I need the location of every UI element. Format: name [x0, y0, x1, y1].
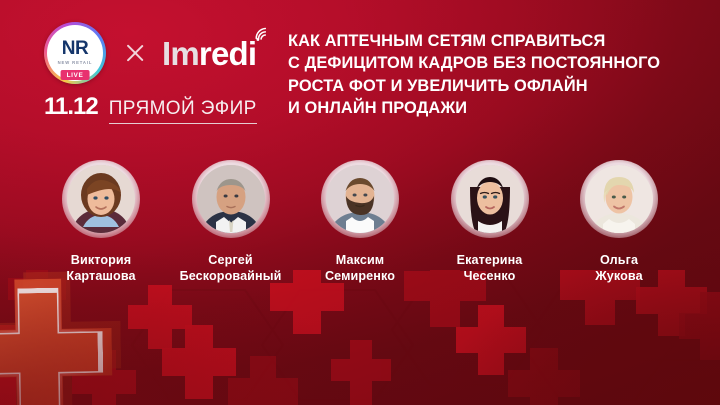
nr-logo-subtitle: NEW RETAIL [58, 60, 93, 65]
avatar-ring [192, 160, 270, 238]
speaker-first-name: Ольга [595, 252, 642, 268]
broadcast-date: 11.12 [44, 95, 98, 119]
speaker-last-name: Бескоровайный [180, 268, 282, 284]
promo-banner: NR NEW RETAIL LIVE Im redi [0, 0, 720, 405]
nr-live-logo: NR NEW RETAIL LIVE [44, 22, 106, 84]
speaker-card: Екатерина Чесенко [429, 160, 551, 300]
imredi-logo: Im redi [162, 37, 256, 70]
banner-header: NR NEW RETAIL LIVE Im redi [0, 0, 720, 150]
speaker-last-name: Жукова [595, 268, 642, 284]
speakers-list: Виктория Карташова [0, 160, 720, 300]
speaker-first-name: Сергей [180, 252, 282, 268]
avatar-ring [321, 160, 399, 238]
speaker-last-name: Чесенко [457, 268, 523, 284]
avatar [197, 165, 265, 233]
speaker-name: Максим Семиренко [325, 252, 395, 284]
avatar [456, 165, 524, 233]
speaker-last-name: Карташова [66, 268, 135, 284]
speaker-card: Ольга Жукова [558, 160, 680, 300]
avatar [326, 165, 394, 233]
speaker-first-name: Екатерина [457, 252, 523, 268]
avatar-ring [451, 160, 529, 238]
broadcast-info: 11.12 ПРЯМОЙ ЭФИР [44, 95, 257, 124]
collab-cross-icon [124, 42, 146, 64]
portrait-woman-dark-hair-icon [456, 165, 524, 233]
portrait-man-suit-tie-icon [197, 165, 265, 233]
portrait-woman-brown-hair-icon [67, 165, 135, 233]
imredi-logo-part1: Im [162, 37, 199, 70]
speaker-name: Екатерина Чесенко [457, 252, 523, 284]
broadcast-label: ПРЯМОЙ ЭФИР [109, 99, 257, 124]
logo-row: NR NEW RETAIL LIVE Im redi [44, 22, 256, 84]
wifi-signal-icon [251, 24, 269, 42]
speaker-first-name: Максим [325, 252, 395, 268]
portrait-woman-blonde-icon [585, 165, 653, 233]
avatar-ring [62, 160, 140, 238]
speaker-first-name: Виктория [66, 252, 135, 268]
portrait-man-beard-icon [326, 165, 394, 233]
speaker-card: Виктория Карташова [40, 160, 162, 300]
headline-line-2: С ДЕФИЦИТОМ КАДРОВ БЕЗ ПОСТОЯННОГО [288, 52, 700, 74]
speaker-card: Сергей Бескоровайный [170, 160, 292, 300]
nr-logo-mark: NR [62, 39, 88, 58]
page-title: КАК АПТЕЧНЫМ СЕТЯМ СПРАВИТЬСЯ С ДЕФИЦИТО… [288, 30, 700, 120]
headline-line-3: РОСТА ФОТ И УВЕЛИЧИТЬ ОФЛАЙН [288, 75, 700, 97]
avatar-ring [580, 160, 658, 238]
avatar [67, 165, 135, 233]
speaker-name: Ольга Жукова [595, 252, 642, 284]
speaker-card: Максим Семиренко [299, 160, 421, 300]
live-badge: LIVE [61, 70, 90, 80]
imredi-logo-part2: redi [199, 37, 256, 70]
speaker-last-name: Семиренко [325, 268, 395, 284]
speaker-name: Сергей Бескоровайный [180, 252, 282, 284]
headline-line-1: КАК АПТЕЧНЫМ СЕТЯМ СПРАВИТЬСЯ [288, 30, 700, 52]
avatar [585, 165, 653, 233]
speaker-name: Виктория Карташова [66, 252, 135, 284]
headline-line-4: И ОНЛАЙН ПРОДАЖИ [288, 97, 700, 119]
